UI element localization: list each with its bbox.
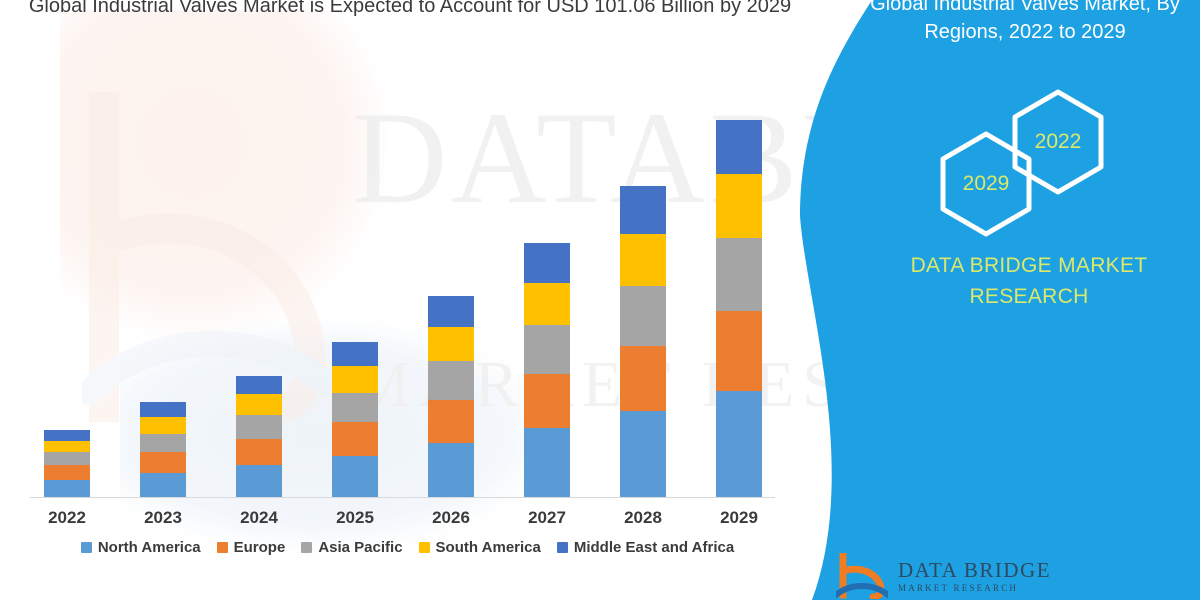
bar-segment-south-america (716, 174, 762, 237)
bar-segment-north-america (332, 456, 378, 497)
x-tick-2023: 2023 (123, 508, 203, 528)
bar-segment-asia-pacific (44, 452, 90, 465)
bar-segment-middle-east-and-africa (620, 186, 666, 234)
bar-segment-south-america (524, 283, 570, 326)
bar-segment-south-america (620, 234, 666, 286)
x-axis-line (30, 497, 775, 498)
brand-name-line-2: RESEARCH (858, 281, 1200, 312)
bar-segment-asia-pacific (620, 286, 666, 346)
x-axis-tick-labels: 20222023202420252026202720282029 (30, 508, 790, 534)
bar-segment-asia-pacific (524, 325, 570, 373)
x-tick-2029: 2029 (699, 508, 779, 528)
x-tick-2025: 2025 (315, 508, 395, 528)
bar-segment-middle-east-and-africa (236, 376, 282, 395)
bridge-logo-icon (836, 553, 888, 599)
chart-panel: DATABRIDGE MARKET RESEARCH Global Indust… (0, 0, 860, 600)
legend-item-south-america[interactable]: South America (419, 539, 541, 556)
bar-segment-south-america (44, 441, 90, 452)
brand-name-line-1: DATA BRIDGE MARKET (858, 250, 1200, 281)
bar-2029 (716, 120, 762, 497)
legend-swatch-icon (217, 542, 228, 553)
bar-segment-europe (332, 422, 378, 456)
legend-swatch-icon (419, 542, 430, 553)
bar-2023 (140, 402, 186, 497)
legend-item-middle-east-and-africa[interactable]: Middle East and Africa (557, 539, 734, 556)
year-hexagons: 2029 2022 (910, 88, 1140, 218)
bar-segment-middle-east-and-africa (44, 430, 90, 441)
legend-item-europe[interactable]: Europe (217, 539, 286, 556)
legend-label: Middle East and Africa (574, 539, 734, 556)
bar-segment-middle-east-and-africa (716, 120, 762, 174)
bar-segment-middle-east-and-africa (140, 402, 186, 417)
infographic-canvas: DATABRIDGE MARKET RESEARCH Global Indust… (0, 0, 1200, 600)
legend-label: Asia Pacific (318, 539, 402, 556)
bar-segment-north-america (140, 473, 186, 497)
branding-heading: Global Industrial Valves Market, By Regi… (800, 0, 1200, 46)
bar-segment-south-america (428, 327, 474, 361)
x-tick-2024: 2024 (219, 508, 299, 528)
legend-swatch-icon (301, 542, 312, 553)
bar-2027 (524, 243, 570, 497)
bar-2028 (620, 186, 666, 497)
bar-segment-asia-pacific (236, 415, 282, 439)
bar-segment-asia-pacific (140, 434, 186, 453)
bar-2026 (428, 296, 474, 497)
bar-segment-asia-pacific (716, 238, 762, 311)
bar-segment-asia-pacific (332, 393, 378, 423)
page-title: Global Industrial Valves Market is Expec… (10, 0, 810, 20)
logo-line-1: DATA BRIDGE (898, 559, 1051, 581)
brand-name: DATA BRIDGE MARKET RESEARCH (820, 250, 1200, 312)
bar-chart-plot-area (30, 120, 790, 498)
chart-legend: North AmericaEuropeAsia PacificSouth Ame… (20, 539, 795, 556)
bar-segment-middle-east-and-africa (524, 243, 570, 282)
bar-segment-south-america (140, 417, 186, 434)
x-tick-2026: 2026 (411, 508, 491, 528)
branding-panel: Global Industrial Valves Market, By Regi… (800, 0, 1200, 600)
bar-segment-europe (44, 465, 90, 480)
logo-line-2: MARKET RESEARCH (898, 584, 1051, 593)
x-tick-2022: 2022 (27, 508, 107, 528)
bar-2024 (236, 376, 282, 497)
bar-segment-south-america (332, 366, 378, 392)
bar-segment-north-america (716, 391, 762, 497)
legend-label: Europe (234, 539, 286, 556)
hexagon-2022-label: 2022 (1010, 88, 1106, 196)
bar-segment-middle-east-and-africa (332, 342, 378, 366)
data-bridge-logo: DATA BRIDGE MARKET RESEARCH (836, 552, 1166, 600)
logo-wordmark: DATA BRIDGE MARKET RESEARCH (898, 559, 1051, 593)
bar-2025 (332, 342, 378, 497)
bar-segment-europe (428, 400, 474, 443)
legend-item-north-america[interactable]: North America (81, 539, 201, 556)
bar-segment-europe (140, 452, 186, 473)
bar-segment-europe (236, 439, 282, 465)
bar-segment-north-america (428, 443, 474, 497)
bar-segment-europe (524, 374, 570, 428)
bar-segment-north-america (620, 411, 666, 497)
legend-label: North America (98, 539, 201, 556)
x-tick-2028: 2028 (603, 508, 683, 528)
legend-item-asia-pacific[interactable]: Asia Pacific (301, 539, 402, 556)
bar-segment-north-america (236, 465, 282, 497)
legend-swatch-icon (81, 542, 92, 553)
x-tick-2027: 2027 (507, 508, 587, 528)
legend-swatch-icon (557, 542, 568, 553)
bar-segment-north-america (524, 428, 570, 497)
hexagon-2022: 2022 (1010, 88, 1106, 196)
legend-label: South America (436, 539, 541, 556)
bar-segment-europe (620, 346, 666, 411)
bar-segment-middle-east-and-africa (428, 296, 474, 328)
bar-segment-north-america (44, 480, 90, 497)
bar-segment-south-america (236, 394, 282, 415)
bar-segment-europe (716, 311, 762, 391)
bar-segment-asia-pacific (428, 361, 474, 400)
bar-2022 (44, 430, 90, 497)
